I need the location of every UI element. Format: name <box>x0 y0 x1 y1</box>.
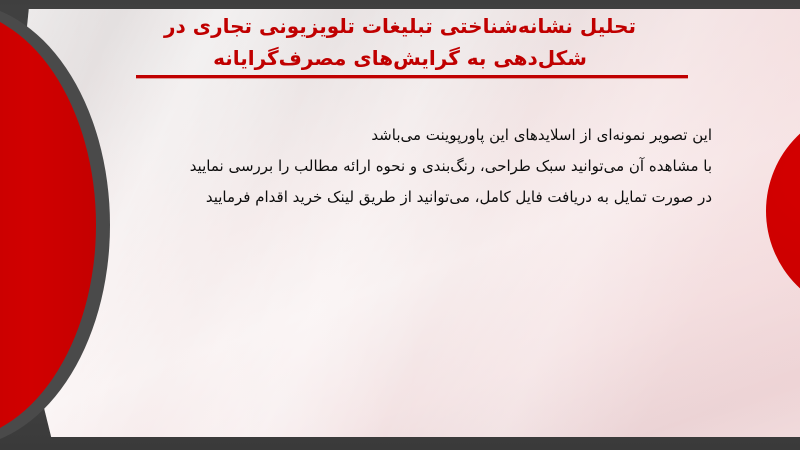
title-line-2: شکل‌دهی به گرایش‌های مصرف‌گرایانه <box>100 42 700 74</box>
body-line-2: با مشاهده آن می‌توانید سبک طراحی، رنگ‌بن… <box>190 151 712 182</box>
presentation-slide: تحلیل نشانه‌شناختی تبلیغات تلویزیونی تجا… <box>0 0 800 450</box>
body-line-1: این تصویر نمونه‌ای از اسلایدهای این پاور… <box>190 120 712 151</box>
slide-title: تحلیل نشانه‌شناختی تبلیغات تلویزیونی تجا… <box>100 10 700 74</box>
body-line-3: در صورت تمایل به دریافت فایل کامل، می‌تو… <box>190 182 712 213</box>
title-underline-rule <box>136 75 688 78</box>
slide-body-text: این تصویر نمونه‌ای از اسلایدهای این پاور… <box>190 120 712 213</box>
title-line-1: تحلیل نشانه‌شناختی تبلیغات تلویزیونی تجا… <box>100 10 700 42</box>
